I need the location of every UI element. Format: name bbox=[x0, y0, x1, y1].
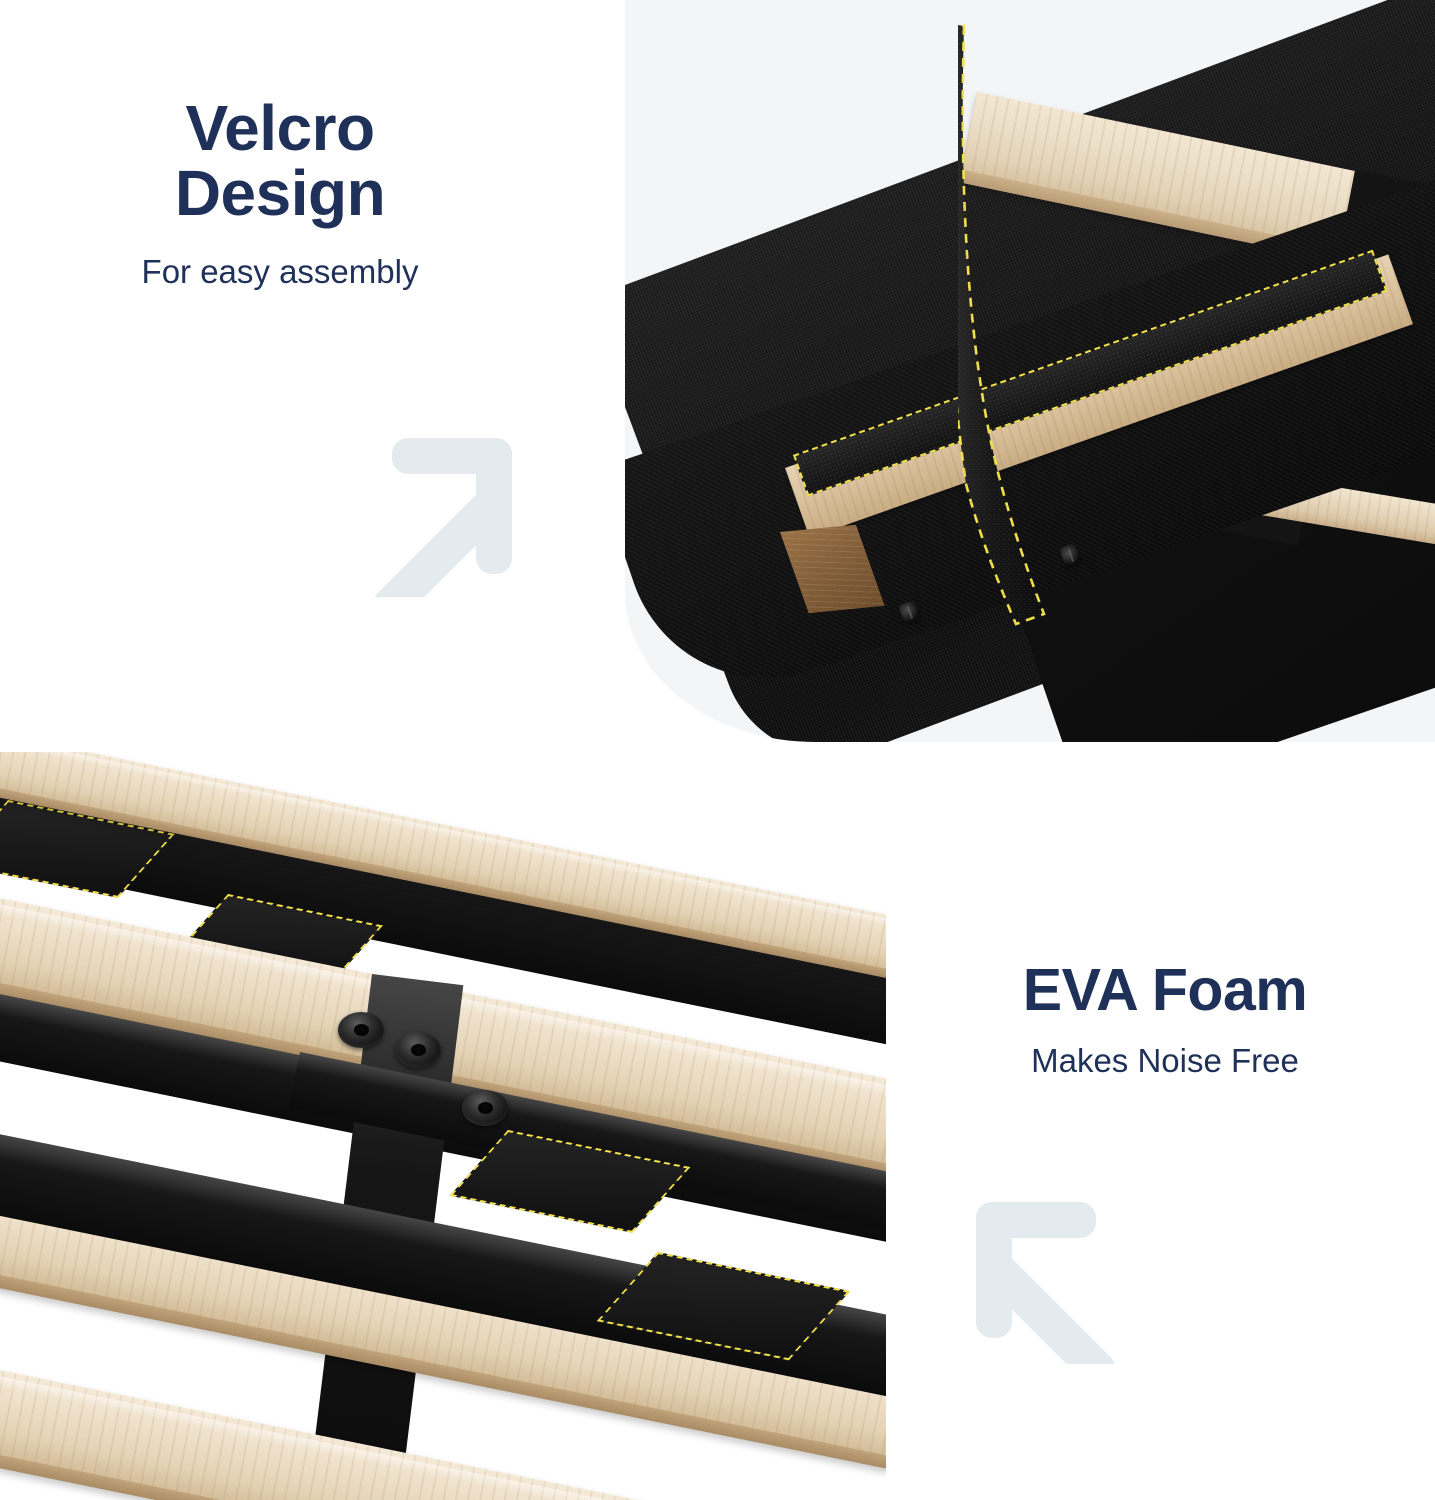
velcro-photo-scene bbox=[625, 0, 1435, 742]
eva-foam-title: EVA Foam bbox=[895, 960, 1435, 1020]
bolt-head-icon bbox=[395, 1032, 441, 1068]
eva-foam-photo-scene bbox=[0, 752, 886, 1500]
velcro-subtitle: For easy assembly bbox=[0, 253, 560, 291]
velcro-strap-lifted bbox=[958, 18, 1054, 628]
eva-foam-text-block: EVA Foam Makes Noise Free bbox=[895, 960, 1435, 1080]
bolt-head-icon bbox=[338, 1012, 384, 1048]
velcro-title: Velcro Design bbox=[0, 96, 560, 227]
bolt-head-icon bbox=[462, 1090, 508, 1126]
arrow-up-left-icon bbox=[958, 1196, 1130, 1364]
velcro-text-block: Velcro Design For easy assembly bbox=[0, 96, 560, 291]
infographic-canvas: Velcro Design For easy assembly EVA Foam… bbox=[0, 0, 1435, 1500]
eva-foam-photo-panel bbox=[0, 752, 886, 1500]
eva-foam-subtitle: Makes Noise Free bbox=[895, 1042, 1435, 1080]
arrow-up-right-icon bbox=[358, 432, 533, 597]
velcro-photo-panel bbox=[625, 0, 1435, 742]
